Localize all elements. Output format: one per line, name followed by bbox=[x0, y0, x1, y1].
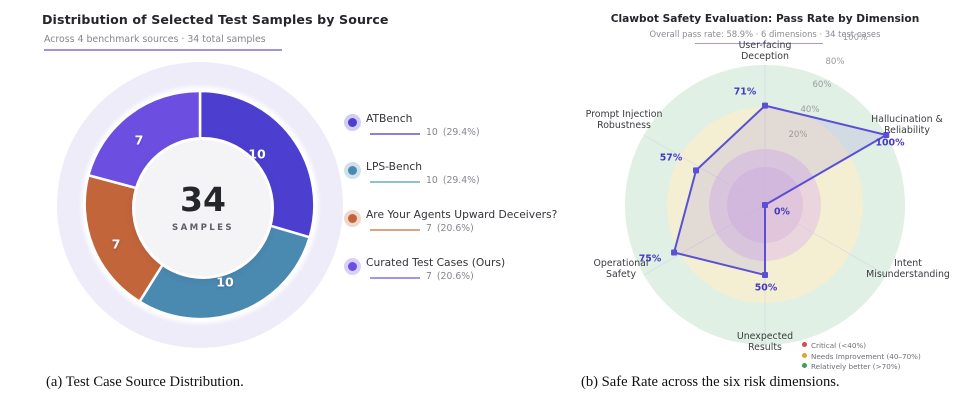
radar-legend: Critical (<40%) Needs Improvement (40–70… bbox=[802, 333, 921, 365]
legend-pct: (29.4%) bbox=[443, 175, 480, 186]
caption-a: (a) Test Case Source Distribution. bbox=[46, 374, 244, 391]
legend-count: 10 bbox=[426, 127, 438, 138]
radar-chart: 20% 40% 60% 80% 100% User-facing Decepti… bbox=[570, 0, 960, 362]
radar-value-hallucination-reliability: 100% bbox=[876, 138, 905, 149]
donut-total-label: SAMPLES bbox=[172, 223, 234, 233]
radar-axis-label-user-facing-deception: User-facing Deception bbox=[715, 40, 815, 63]
radar-axis-label-prompt-injection-robustness: Prompt Injection Robustness bbox=[570, 109, 678, 132]
legend-pct: (20.6%) bbox=[437, 271, 474, 282]
radar-value-unexpected-results: 50% bbox=[755, 283, 777, 294]
radar-axis-label-intent-misunderstanding: Intent Misunderstanding bbox=[858, 258, 958, 281]
legend-item-upward-deceivers[interactable]: Are Your Agents Upward Deceivers? 7(20.6… bbox=[348, 208, 563, 256]
legend-rule bbox=[370, 229, 420, 231]
donut-total-value: 34 bbox=[180, 183, 226, 216]
radar-axis-label-hallucination-reliability: Hallucination & Reliability bbox=[855, 114, 959, 137]
panel-a-subtitle: Across 4 benchmark sources · 34 total sa… bbox=[44, 34, 266, 45]
panel-a-accent-rule bbox=[44, 49, 282, 51]
legend-dot-icon bbox=[348, 166, 357, 175]
radar-legend-item-critical[interactable]: Critical (<40%) bbox=[802, 333, 921, 344]
radar-ring-label-20: 20% bbox=[788, 130, 807, 140]
legend-stat: 10(29.4%) bbox=[426, 175, 480, 186]
legend-rule bbox=[370, 181, 420, 183]
radar-value-operational-safety: 75% bbox=[639, 254, 661, 265]
radar-axis-label-unexpected-results: Unexpected Results bbox=[715, 331, 815, 354]
legend-label: Curated Test Cases (Ours) bbox=[366, 256, 505, 269]
radar-ring-label-60: 60% bbox=[812, 80, 831, 90]
legend-item-lps-bench[interactable]: LPS-Bench 10(29.4%) bbox=[348, 160, 563, 208]
figure-container: Distribution of Selected Test Samples by… bbox=[0, 0, 960, 411]
donut-center: 34 SAMPLES bbox=[132, 137, 274, 279]
legend-item-atbench[interactable]: ATBench 10(29.4%) bbox=[348, 112, 563, 160]
legend-dot-icon bbox=[348, 118, 357, 127]
legend-label: ATBench bbox=[366, 112, 412, 125]
legend-rule bbox=[370, 277, 420, 279]
radar-value-user-facing-deception: 71% bbox=[734, 87, 756, 98]
legend-item-curated-test-cases[interactable]: Curated Test Cases (Ours) 7(20.6%) bbox=[348, 256, 563, 304]
legend-dot-icon bbox=[348, 214, 357, 223]
radar-value-prompt-injection-robustness: 57% bbox=[660, 153, 682, 164]
radar-legend-label: Relatively better (>70%) bbox=[811, 362, 900, 371]
radar-ring-label-100: 100% bbox=[843, 33, 868, 43]
panel-safe-rate-radar: Clawbot Safety Evaluation: Pass Rate by … bbox=[570, 0, 960, 362]
caption-b: (b) Safe Rate across the six risk dimens… bbox=[581, 374, 840, 391]
legend-pct: (29.4%) bbox=[443, 127, 480, 138]
panel-test-case-source-distribution: Distribution of Selected Test Samples by… bbox=[0, 0, 570, 362]
radar-ring-label-80: 80% bbox=[825, 57, 844, 67]
panel-a-title: Distribution of Selected Test Samples by… bbox=[42, 12, 389, 27]
legend-label: Are Your Agents Upward Deceivers? bbox=[366, 208, 557, 221]
legend-stat: 10(29.4%) bbox=[426, 127, 480, 138]
radar-value-intent-misunderstanding: 0% bbox=[774, 207, 790, 218]
donut-slice-value-curated-test-cases: 7 bbox=[135, 133, 144, 148]
legend-count: 7 bbox=[426, 223, 432, 234]
legend-dot-icon bbox=[802, 363, 807, 368]
radar-ring-label-40: 40% bbox=[800, 105, 819, 115]
legend-count: 10 bbox=[426, 175, 438, 186]
donut-chart: 10 10 7 7 34 SAMPLES bbox=[57, 62, 343, 348]
legend-pct: (20.6%) bbox=[437, 223, 474, 234]
donut-slice-value-upward-deceivers: 7 bbox=[112, 237, 121, 252]
legend-count: 7 bbox=[426, 271, 432, 282]
legend-label: LPS-Bench bbox=[366, 160, 422, 173]
legend-stat: 7(20.6%) bbox=[426, 223, 474, 234]
legend-dot-icon bbox=[348, 262, 357, 271]
radar-legend-item-needs-improvement[interactable]: Needs Improvement (40–70%) bbox=[802, 344, 921, 355]
legend-rule bbox=[370, 133, 420, 135]
donut-legend: ATBench 10(29.4%) LPS-Bench 10(29.4%) Ar… bbox=[348, 112, 563, 304]
radar-legend-item-relatively-better[interactable]: Relatively better (>70%) bbox=[802, 354, 921, 365]
legend-stat: 7(20.6%) bbox=[426, 271, 474, 282]
